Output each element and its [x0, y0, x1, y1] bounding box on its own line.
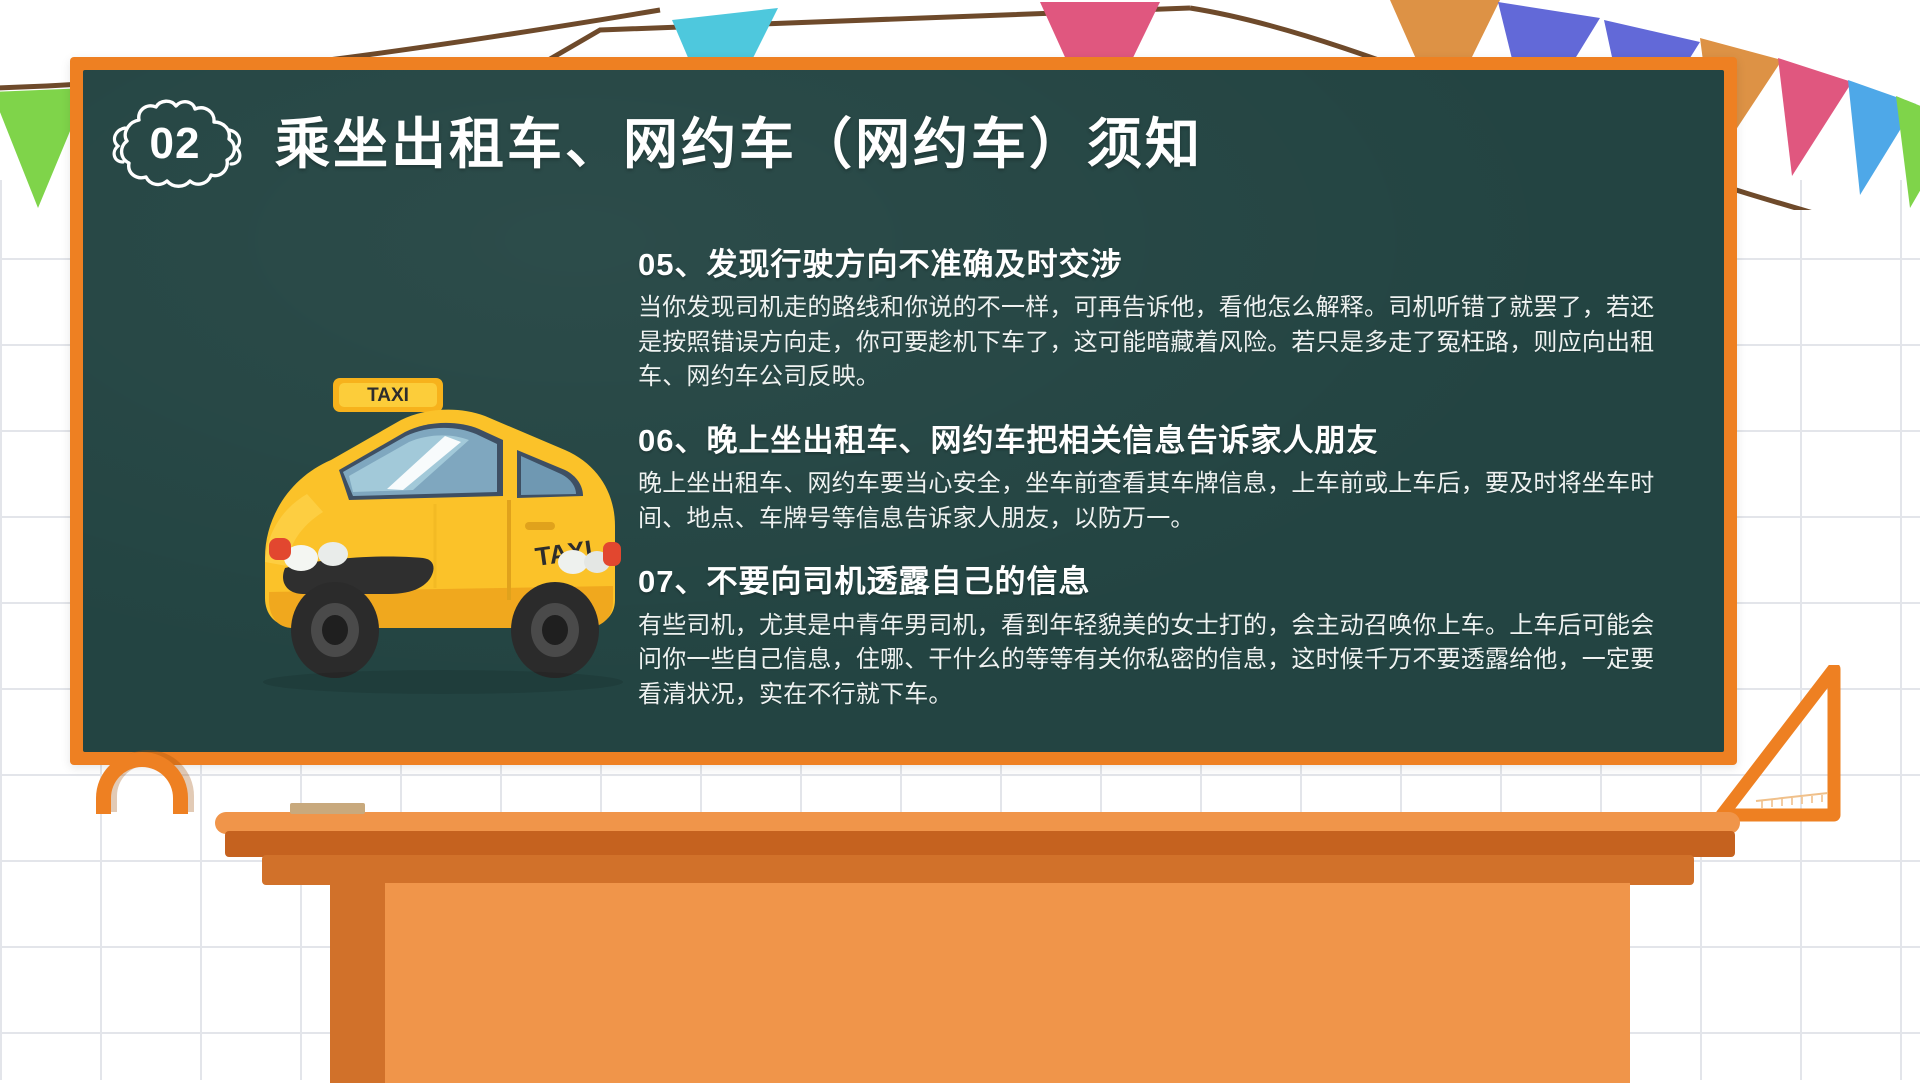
- chalk-stick: [290, 803, 365, 814]
- section-item: 05、发现行驶方向不准确及时交涉 当你发现司机走的路线和你说的不一样，可再告诉他…: [638, 245, 1658, 395]
- blackboard-surface: 02 乘坐出租车、网约车（网约车）须知 TAXI: [83, 70, 1724, 752]
- blackboard-frame: 02 乘坐出租车、网约车（网约车）须知 TAXI: [70, 57, 1737, 765]
- desk-top-edge: [262, 855, 1694, 885]
- svg-text:TAXI: TAXI: [367, 385, 409, 406]
- cloud-badge: 02: [105, 98, 245, 190]
- taxi-wheel-rear: [511, 582, 599, 678]
- section-number: 02: [105, 98, 245, 190]
- desk-body: [330, 883, 1630, 1083]
- section-body: 晚上坐出租车、网约车要当心安全，坐车前查看其车牌信息，上车前或上车后，要及时将坐…: [638, 467, 1658, 536]
- taxi-roof-sign: TAXI: [333, 378, 443, 412]
- section-body: 当你发现司机走的路线和你说的不一样，可再告诉他，看他怎么解释。司机听错了就罢了，…: [638, 291, 1658, 395]
- section-item: 07、不要向司机透露自己的信息 有些司机，尤其是中青年男司机，看到年轻貌美的女士…: [638, 562, 1658, 712]
- taxi-wheel-front: [291, 582, 379, 678]
- section-item: 06、晚上坐出租车、网约车把相关信息告诉家人朋友 晚上坐出租车、网约车要当心安全…: [638, 421, 1658, 536]
- sections-list: 05、发现行驶方向不准确及时交涉 当你发现司机走的路线和你说的不一样，可再告诉他…: [638, 245, 1658, 712]
- chalk-tray-shadow: [225, 831, 1735, 857]
- section-heading: 05、发现行驶方向不准确及时交涉: [638, 245, 1658, 285]
- slide-title-row: 02 乘坐出租车、网约车（网约车）须知: [105, 98, 1203, 190]
- taxi-illustration: TAXI: [173, 300, 653, 720]
- section-heading: 07、不要向司机透露自己的信息: [638, 562, 1658, 602]
- section-heading: 06、晚上坐出租车、网约车把相关信息告诉家人朋友: [638, 421, 1658, 461]
- set-square-ruler: [1716, 665, 1846, 825]
- desk-body-side-shade: [330, 883, 385, 1083]
- section-body: 有些司机，尤其是中青年男司机，看到年轻貌美的女士打的，会主动召唤你上车。上车后可…: [638, 609, 1658, 713]
- page-title: 乘坐出租车、网约车（网约车）须知: [275, 117, 1203, 172]
